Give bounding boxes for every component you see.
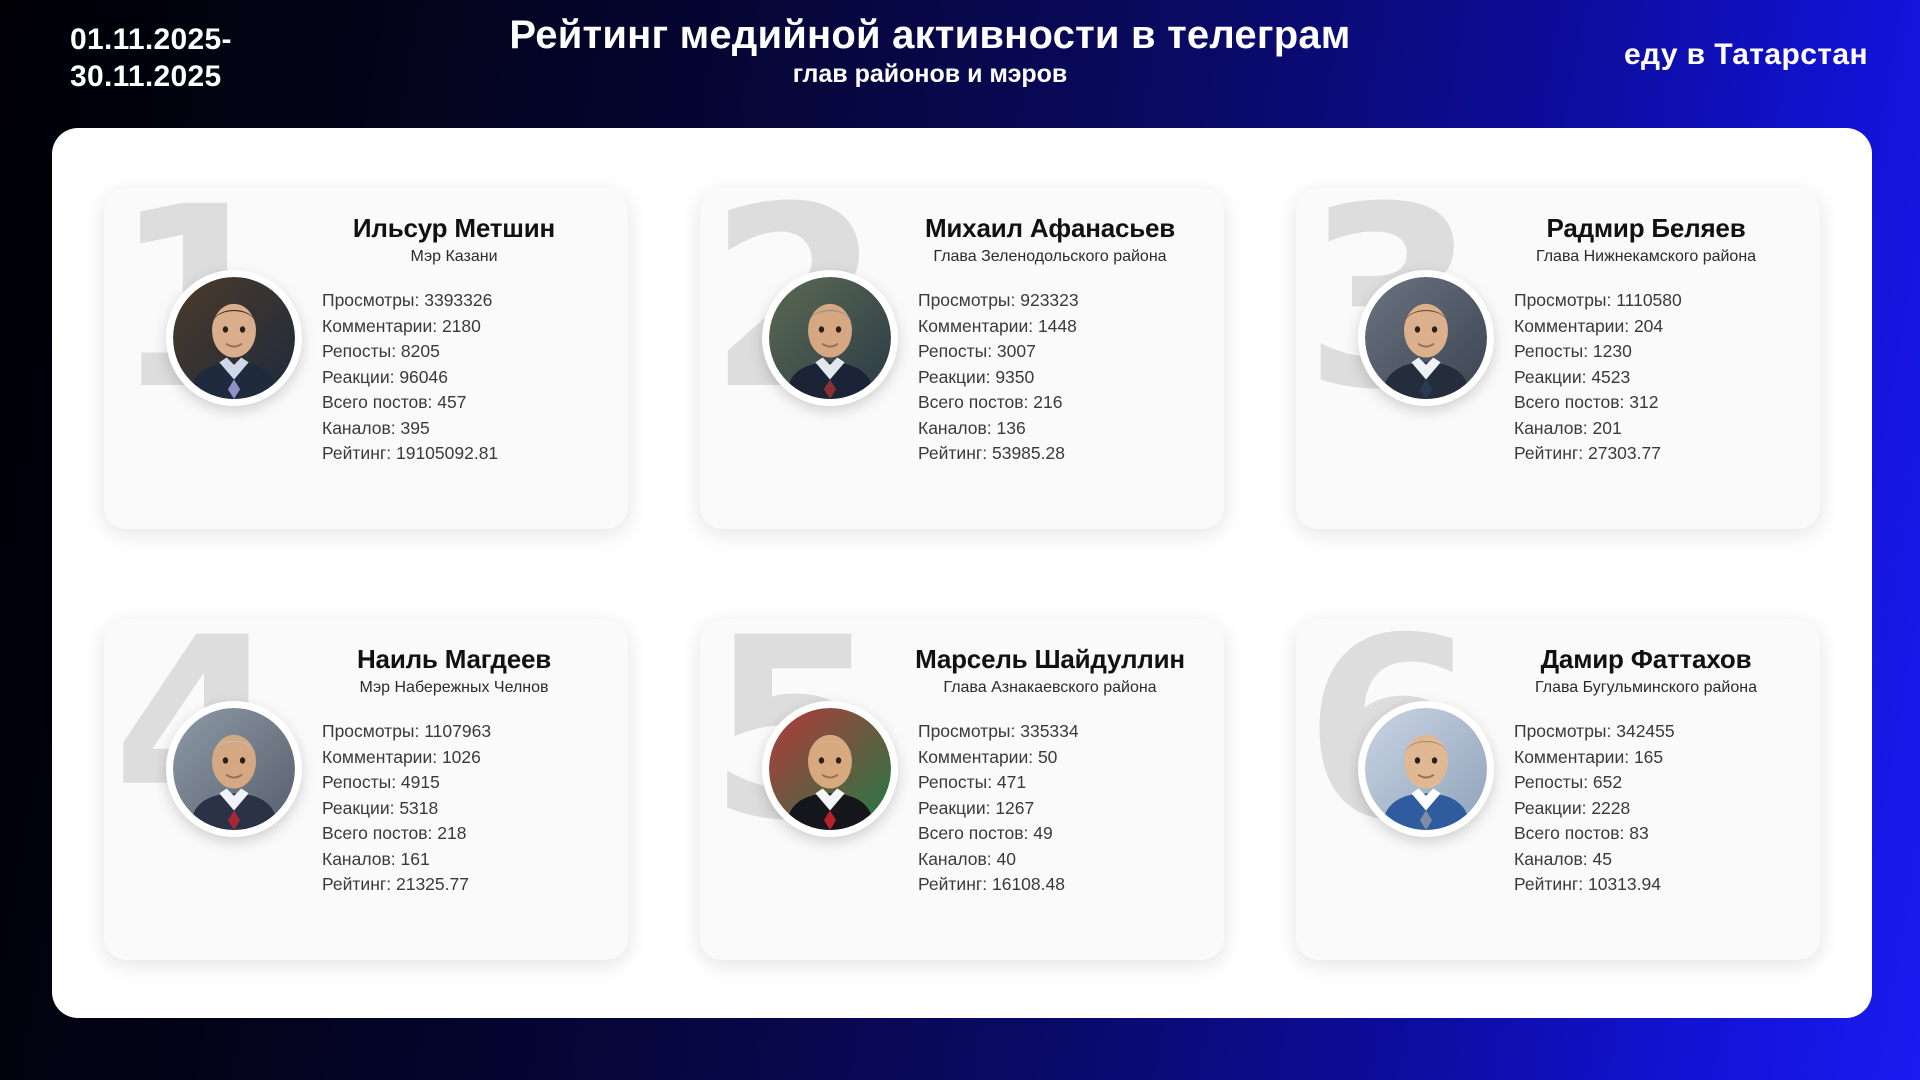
person-role: Мэр Казани — [300, 247, 608, 266]
person-name: Марсель Шайдуллин — [896, 645, 1204, 675]
portrait-photo — [769, 708, 891, 830]
ranking-card[interactable]: 1 Ильсур Метшин Мэр Казани Просмотры: 33… — [104, 188, 628, 529]
person-role: Глава Нижнекамского района — [1492, 247, 1800, 266]
stat-line: Рейтинг: 21325.77 — [322, 872, 608, 898]
stat-line: Комментарии: 1448 — [918, 314, 1204, 340]
page-title: Рейтинг медийной активности в телеграм — [380, 14, 1480, 57]
stat-line: Репосты: 8205 — [322, 339, 608, 365]
ranking-card[interactable]: 4 Наиль Магдеев Мэр Набережных Челнов Пр… — [104, 619, 628, 960]
stat-line: Реакции: 2228 — [1514, 796, 1800, 822]
stat-line: Рейтинг: 19105092.81 — [322, 441, 608, 467]
title-block: Рейтинг медийной активности в телеграм г… — [380, 14, 1480, 89]
card-body: Наиль Магдеев Мэр Набережных Челнов Прос… — [300, 645, 608, 898]
stat-line: Всего постов: 457 — [322, 390, 608, 416]
content-panel: 1 Ильсур Метшин Мэр Казани Просмотры: 33… — [52, 128, 1872, 1018]
portrait-photo — [769, 277, 891, 399]
stat-line: Комментарии: 1026 — [322, 745, 608, 771]
person-role: Глава Бугульминского района — [1492, 678, 1800, 697]
avatar-marsel-shaydullin — [762, 701, 898, 837]
stat-line: Просмотры: 335334 — [918, 719, 1204, 745]
stat-line: Комментарии: 2180 — [322, 314, 608, 340]
stats-list: Просмотры: 335334Комментарии: 50Репосты:… — [896, 719, 1204, 898]
page-subtitle: глав районов и мэров — [380, 59, 1480, 89]
card-body: Михаил Афанасьев Глава Зеленодольского р… — [896, 214, 1204, 467]
stat-line: Каналов: 395 — [322, 416, 608, 442]
stat-line: Всего постов: 216 — [918, 390, 1204, 416]
avatar-radmir-belyaev — [1358, 270, 1494, 406]
ranking-card[interactable]: 6 Дамир Фаттахов Глава Бугульминского ра… — [1296, 619, 1820, 960]
card-body: Дамир Фаттахов Глава Бугульминского райо… — [1492, 645, 1800, 898]
stat-line: Всего постов: 312 — [1514, 390, 1800, 416]
person-name: Дамир Фаттахов — [1492, 645, 1800, 675]
stat-line: Рейтинг: 10313.94 — [1514, 872, 1800, 898]
stat-line: Реакции: 5318 — [322, 796, 608, 822]
stats-list: Просмотры: 1110580Комментарии: 204Репост… — [1492, 288, 1800, 467]
stat-line: Каналов: 136 — [918, 416, 1204, 442]
card-body: Марсель Шайдуллин Глава Азнакаевского ра… — [896, 645, 1204, 898]
portrait-photo — [1365, 277, 1487, 399]
stat-line: Каналов: 45 — [1514, 847, 1800, 873]
portrait-photo — [173, 708, 295, 830]
person-role: Глава Азнакаевского района — [896, 678, 1204, 697]
stats-list: Просмотры: 923323Комментарии: 1448Репост… — [896, 288, 1204, 467]
person-name: Наиль Магдеев — [300, 645, 608, 675]
person-name: Ильсур Метшин — [300, 214, 608, 244]
stat-line: Каналов: 201 — [1514, 416, 1800, 442]
stat-line: Рейтинг: 16108.48 — [918, 872, 1204, 898]
avatar-mikhail-afanasyev — [762, 270, 898, 406]
stat-line: Реакции: 4523 — [1514, 365, 1800, 391]
person-role: Глава Зеленодольского района — [896, 247, 1204, 266]
ranking-grid: 1 Ильсур Метшин Мэр Казани Просмотры: 33… — [104, 188, 1820, 960]
stat-line: Репосты: 471 — [918, 770, 1204, 796]
brand-label: еду в Татарстан — [1624, 38, 1868, 72]
stat-line: Рейтинг: 27303.77 — [1514, 441, 1800, 467]
stat-line: Просмотры: 342455 — [1514, 719, 1800, 745]
stat-line: Просмотры: 1107963 — [322, 719, 608, 745]
ranking-card[interactable]: 5 Марсель Шайдуллин Глава Азнакаевского … — [700, 619, 1224, 960]
portrait-photo — [1365, 708, 1487, 830]
stat-line: Реакции: 96046 — [322, 365, 608, 391]
stat-line: Реакции: 9350 — [918, 365, 1204, 391]
stat-line: Комментарии: 50 — [918, 745, 1204, 771]
stat-line: Репосты: 1230 — [1514, 339, 1800, 365]
portrait-photo — [173, 277, 295, 399]
stat-line: Всего постов: 218 — [322, 821, 608, 847]
person-name: Радмир Беляев — [1492, 214, 1800, 244]
stat-line: Комментарии: 165 — [1514, 745, 1800, 771]
stat-line: Реакции: 1267 — [918, 796, 1204, 822]
stats-list: Просмотры: 1107963Комментарии: 1026Репос… — [300, 719, 608, 898]
avatar-ilsur-metshin — [166, 270, 302, 406]
person-role: Мэр Набережных Челнов — [300, 678, 608, 697]
stat-line: Репосты: 3007 — [918, 339, 1204, 365]
stat-line: Каналов: 161 — [322, 847, 608, 873]
page-header: 01.11.2025- 30.11.2025 Рейтинг медийной … — [0, 0, 1920, 104]
stat-line: Рейтинг: 53985.28 — [918, 441, 1204, 467]
stat-line: Всего постов: 83 — [1514, 821, 1800, 847]
avatar-nail-magdeev — [166, 701, 302, 837]
stat-line: Каналов: 40 — [918, 847, 1204, 873]
stat-line: Репосты: 652 — [1514, 770, 1800, 796]
stat-line: Просмотры: 3393326 — [322, 288, 608, 314]
stat-line: Репосты: 4915 — [322, 770, 608, 796]
avatar-damir-fattakhov — [1358, 701, 1494, 837]
stat-line: Комментарии: 204 — [1514, 314, 1800, 340]
stats-list: Просмотры: 342455Комментарии: 165Репосты… — [1492, 719, 1800, 898]
person-name: Михаил Афанасьев — [896, 214, 1204, 244]
card-body: Ильсур Метшин Мэр Казани Просмотры: 3393… — [300, 214, 608, 467]
stats-list: Просмотры: 3393326Комментарии: 2180Репос… — [300, 288, 608, 467]
stat-line: Всего постов: 49 — [918, 821, 1204, 847]
ranking-card[interactable]: 2 Михаил Афанасьев Глава Зеленодольского… — [700, 188, 1224, 529]
stat-line: Просмотры: 1110580 — [1514, 288, 1800, 314]
ranking-card[interactable]: 3 Радмир Беляев Глава Нижнекамского райо… — [1296, 188, 1820, 529]
card-body: Радмир Беляев Глава Нижнекамского района… — [1492, 214, 1800, 467]
date-range-label: 01.11.2025- 30.11.2025 — [70, 22, 330, 95]
stat-line: Просмотры: 923323 — [918, 288, 1204, 314]
